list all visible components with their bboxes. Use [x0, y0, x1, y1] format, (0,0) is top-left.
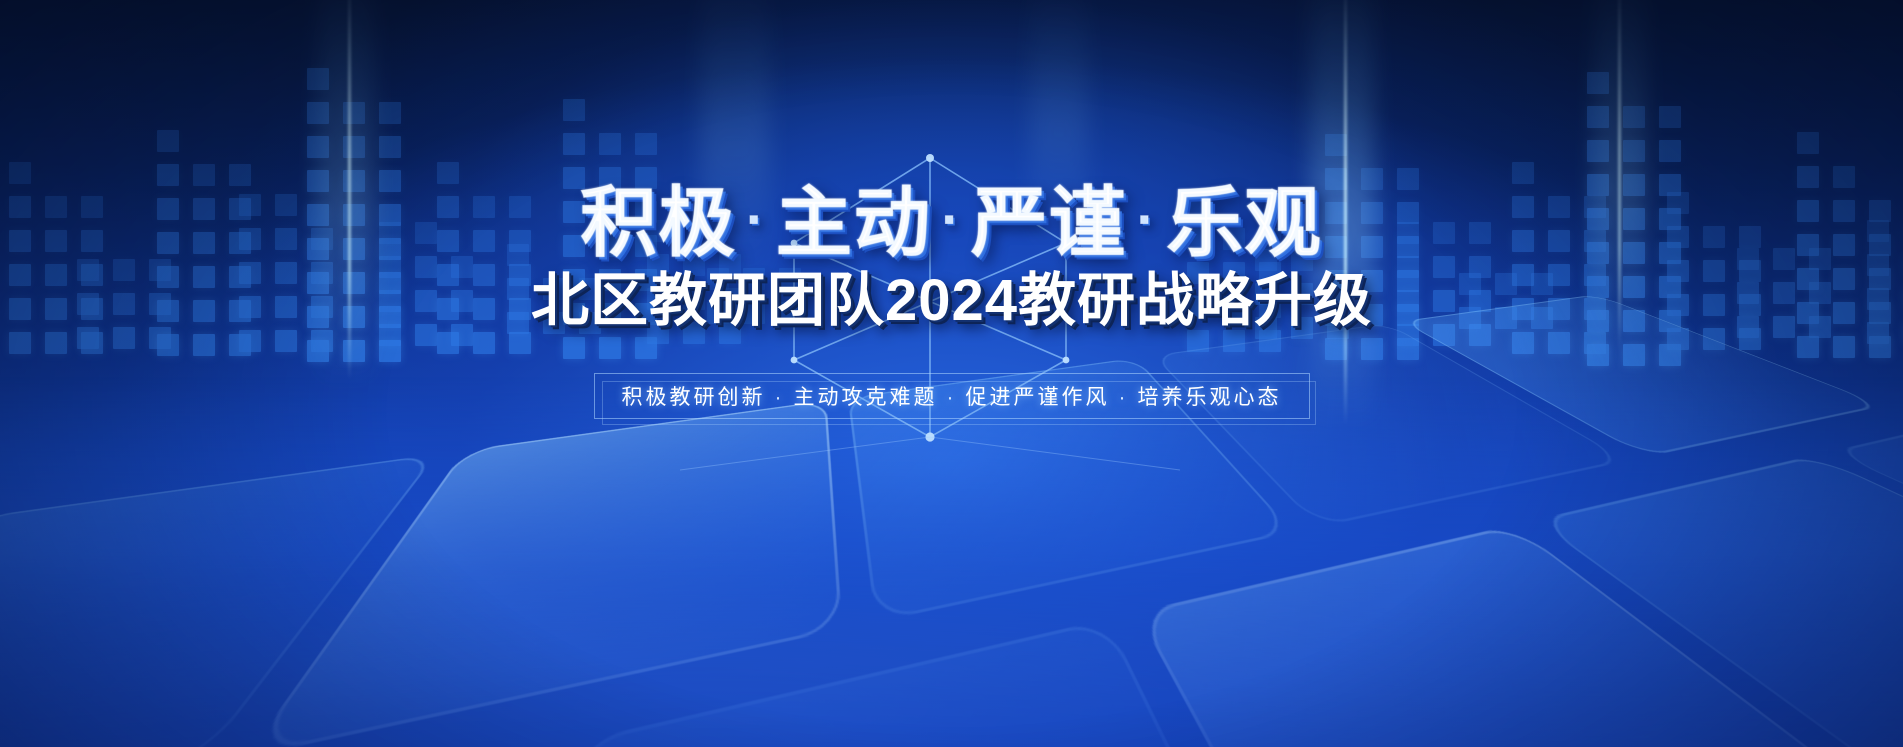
tagline-item-2: 主动攻克难题: [794, 386, 938, 409]
banner-root: 积极·主动·严谨·乐观 北区教研团队2024教研战略升级 积极教研创新·主动攻克…: [0, 0, 1903, 747]
tagline-separator-2: ·: [947, 386, 957, 409]
headline-separator-1: ·: [747, 191, 766, 249]
tagline-separator-3: ·: [1119, 386, 1129, 409]
subheadline: 北区教研团队2024教研战略升级: [0, 272, 1903, 330]
tagline-separator-1: ·: [775, 386, 785, 409]
headline-word-4: 乐观: [1166, 181, 1322, 266]
headline-separator-2: ·: [942, 191, 961, 249]
tagline-item-1: 积极教研创新: [622, 386, 766, 409]
headline-word-1: 积极: [581, 181, 737, 266]
headline-word-3: 严谨: [971, 181, 1127, 266]
headline-separator-3: ·: [1137, 191, 1156, 249]
tagline-item-4: 培养乐观心态: [1138, 386, 1282, 409]
tagline-item-3: 促进严谨作风: [966, 386, 1110, 409]
headline: 积极·主动·严谨·乐观: [0, 186, 1903, 262]
tagline: 积极教研创新·主动攻克难题·促进严谨作风·培养乐观心态: [622, 381, 1282, 411]
headline-word-2: 主动: [776, 181, 932, 266]
tagline-frame: 积极教研创新·主动攻克难题·促进严谨作风·培养乐观心态: [594, 373, 1310, 419]
